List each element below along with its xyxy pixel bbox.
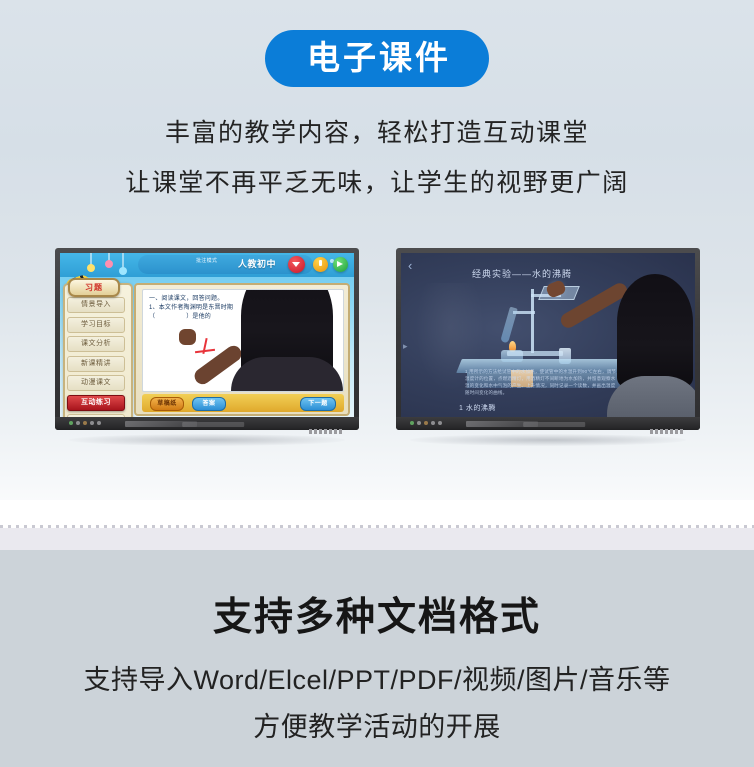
student-figure-left xyxy=(227,289,344,391)
device-brand-right xyxy=(523,422,585,427)
device-right-experiment: ‹ 经典实验——水的沸腾 ▸ xyxy=(396,248,700,444)
courseware-menu-list: 情景导入 学习目标 课文分析 新课精讲 动漫课文 互动练习 扩展天地 xyxy=(67,297,125,420)
student-hand-left xyxy=(179,329,196,345)
menu-item-0[interactable]: 情景导入 xyxy=(67,297,125,313)
answer-button[interactable]: 答案 xyxy=(192,397,226,411)
footer-line-2: 方便教学活动的开展 xyxy=(0,704,754,751)
draft-paper-button[interactable]: 草稿纸 xyxy=(150,397,184,411)
device-speaker-right xyxy=(650,421,688,427)
hero-subtitle-line-2: 让课堂不再平乏无味，让学生的视野更广阔 xyxy=(0,158,754,208)
stand-rod-graphic xyxy=(531,289,534,353)
test-tube-graphic xyxy=(500,307,518,344)
experiment-canvas: ‹ 经典实验——水的沸腾 ▸ xyxy=(401,253,695,420)
screen-courseware: 批注模式 人教初中 习题 xyxy=(60,253,354,420)
footer-line-1: 支持导入Word/Elcel/PPT/PDF/视频/图片/音乐等 xyxy=(0,657,754,704)
menu-item-1[interactable]: 学习目标 xyxy=(67,317,125,333)
next-question-button[interactable]: 下一题 xyxy=(300,397,336,411)
section-white-gap xyxy=(0,500,754,525)
courseware-topbar-pill xyxy=(138,255,313,274)
courseware-worksheet: 一、阅读课文，回答问题。 1、本文作者陶渊明是东晋时期 （ ）是他的 xyxy=(142,289,344,392)
menu-item-4[interactable]: 动漫课文 xyxy=(67,375,125,391)
grade-label: 人教初中 xyxy=(238,257,276,270)
hero-badge: 电子课件 xyxy=(265,30,489,87)
side-arrow-icon[interactable]: ▸ xyxy=(403,341,408,352)
student-figure-right xyxy=(605,270,695,420)
menu-item-5-active[interactable]: 互动练习 xyxy=(67,395,125,411)
menu-item-3[interactable]: 新课精讲 xyxy=(67,356,125,372)
handwriting-mark xyxy=(193,338,215,356)
hero-subtitle-line-1: 丰富的教学内容，轻松打造互动课堂 xyxy=(0,108,754,158)
device-left-courseware: 批注模式 人教初中 习题 xyxy=(55,248,359,444)
courseware-content-page: 一、阅读课文，回答问题。 1、本文作者陶渊明是东晋时期 （ ）是他的 xyxy=(134,283,350,416)
student-hair-right xyxy=(617,274,693,392)
download-icon[interactable] xyxy=(313,257,328,272)
device-speaker-left xyxy=(309,421,347,427)
device-controls-right[interactable] xyxy=(410,421,456,426)
stand-base-graphic xyxy=(507,351,563,356)
device-shadow-right xyxy=(410,434,686,446)
page-root: 电子课件 丰富的教学内容，轻松打造互动课堂 让课堂不再平乏无味，让学生的视野更广… xyxy=(0,0,754,767)
device-shadow-left xyxy=(69,434,345,446)
device-bezel-bottom-left xyxy=(55,417,359,430)
experiment-paragraph: 1.用所示的方法给试管中的水加热，使试管中的水温升到90℃左右，调节温度计的位置… xyxy=(465,368,617,396)
chevron-down-icon[interactable] xyxy=(288,256,305,273)
menu-item-2[interactable]: 课文分析 xyxy=(67,336,125,352)
device-brand-left xyxy=(182,422,244,427)
footer-title: 支持多种文档格式 xyxy=(0,598,754,637)
hero-subtitle-container: 丰富的教学内容，轻松打造互动课堂 让课堂不再平乏无味，让学生的视野更广阔 xyxy=(0,108,754,208)
decor-hanging-1 xyxy=(90,253,92,267)
experiment-label: 1 水的沸腾 xyxy=(459,403,496,413)
decor-hanging-2 xyxy=(108,253,110,263)
courseware-canvas: 批注模式 人教初中 习题 xyxy=(60,253,354,420)
section-lavender-strip xyxy=(0,528,754,550)
screen-experiment: ‹ 经典实验——水的沸腾 ▸ xyxy=(401,253,695,420)
device-bezel-bottom-right xyxy=(396,417,700,430)
courseware-topbar: 批注模式 人教初中 xyxy=(60,253,354,277)
hero-section: 电子课件 丰富的教学内容，轻松打造互动课堂 让课堂不再平乏无味，让学生的视野更广… xyxy=(0,0,754,525)
hero-badge-container: 电子课件 xyxy=(0,30,754,87)
footer-lines: 支持导入Word/Elcel/PPT/PDF/视频/图片/音乐等 方便教学活动的… xyxy=(0,657,754,751)
courseware-panel-title: 习题 xyxy=(68,278,120,297)
student-shoulder-left xyxy=(231,357,343,391)
annotation-mode-label[interactable]: 批注模式 xyxy=(196,257,217,264)
device-controls-left[interactable] xyxy=(69,421,115,426)
footer-section: 支持多种文档格式 支持导入Word/Elcel/PPT/PDF/视频/图片/音乐… xyxy=(0,550,754,767)
volume-icon[interactable] xyxy=(333,257,348,272)
courseware-button-bar: 草稿纸 答案 下一题 xyxy=(142,394,344,412)
device-bezel-left: 批注模式 人教初中 习题 xyxy=(55,248,359,430)
decor-hanging-3 xyxy=(122,253,124,270)
device-bezel-right: ‹ 经典实验——水的沸腾 ▸ xyxy=(396,248,700,430)
